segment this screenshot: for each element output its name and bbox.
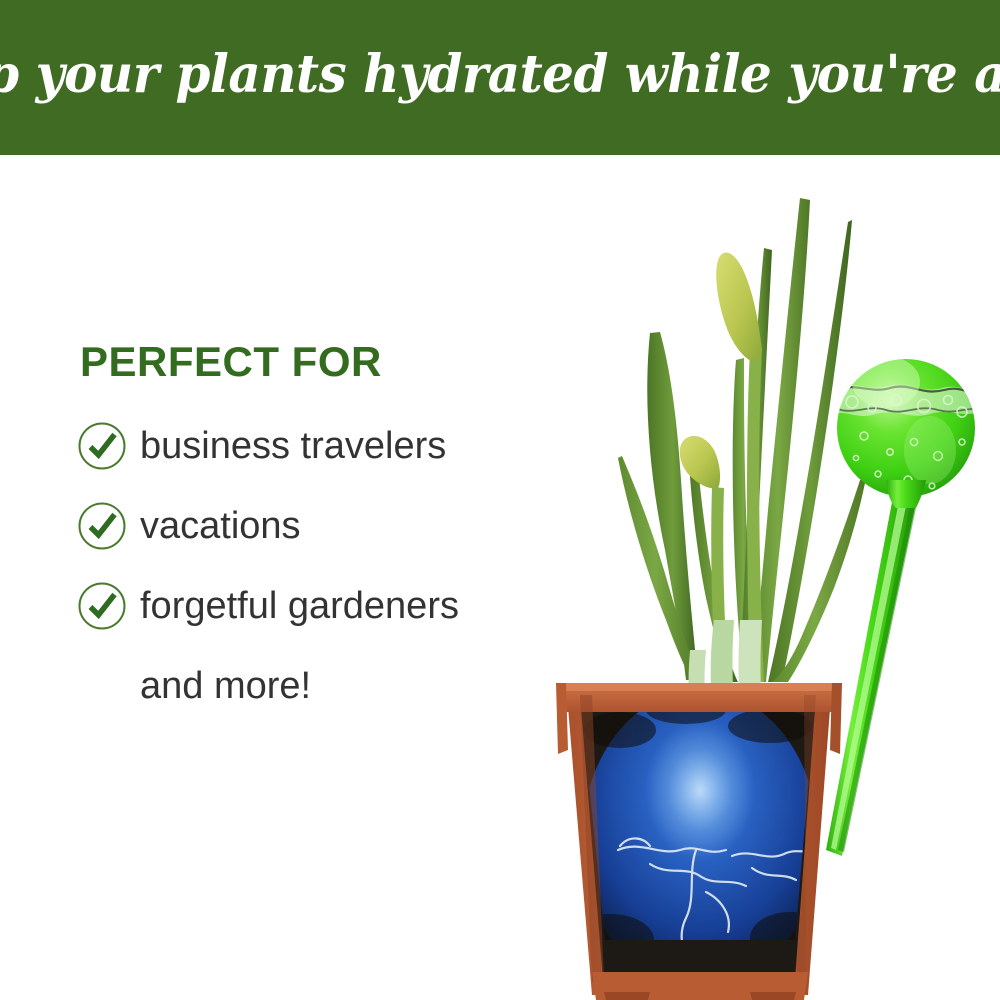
banner-headline: Keep your plants hydrated while you're a… [20, 0, 980, 155]
plant-leaves [618, 198, 866, 683]
check-circle-icon [78, 422, 126, 470]
list-item-label: business travelers [140, 427, 446, 465]
perfect-for-heading: PERFECT FOR [80, 340, 558, 384]
list-item: forgetful gardeners [78, 566, 558, 646]
benefits-block: PERFECT FOR business travelers vacations [78, 340, 558, 726]
check-circle-icon [78, 502, 126, 550]
list-item: and more! [78, 646, 558, 726]
list-item: business travelers [78, 406, 558, 486]
flower-pot [556, 683, 842, 1000]
list-item-label: and more! [140, 667, 311, 705]
list-item-label: vacations [140, 507, 301, 545]
watering-globe [836, 356, 980, 508]
product-photo [500, 150, 1000, 1000]
list-item: vacations [78, 486, 558, 566]
list-item-label: forgetful gardeners [140, 587, 459, 625]
header-banner: Keep your plants hydrated while you're a… [0, 0, 1000, 155]
check-circle-icon [78, 582, 126, 630]
infographic-page: Keep your plants hydrated while you're a… [0, 0, 1000, 1000]
